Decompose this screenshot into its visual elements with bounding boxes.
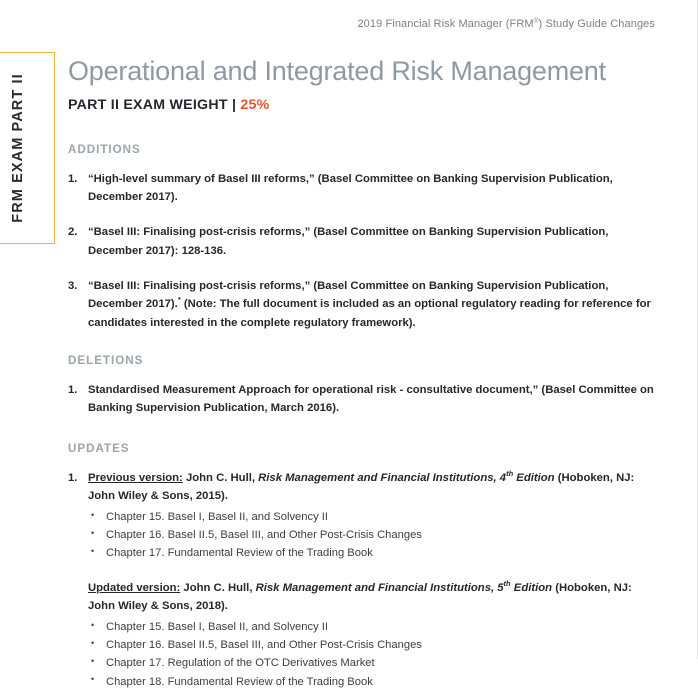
previous-version-chapter-list: Chapter 15. Basel I, Basel II, and Solve…: [88, 508, 656, 562]
list-item-number: 1.: [68, 469, 77, 487]
list-item-number: 3.: [68, 277, 77, 295]
updated-version-chapter-list: Chapter 15. Basel I, Basel II, and Solve…: [88, 618, 656, 691]
section-heading-updates: UPDATES: [68, 442, 656, 455]
previous-version-author: John C. Hull,: [183, 472, 258, 484]
list-item-number: 1.: [68, 170, 77, 188]
updated-version-label: Updated version:: [88, 582, 180, 594]
list-item: Chapter 17. Regulation of the OTC Deriva…: [88, 654, 656, 672]
section-additions: ADDITIONS 1. “High-level summary of Base…: [68, 143, 656, 332]
updated-version-line: Updated version: John C. Hull, Risk Mana…: [88, 579, 656, 616]
running-header-text-pre: 2019 Financial Risk Manager (FRM: [357, 18, 533, 30]
list-item: Chapter 17. Fundamental Review of the Tr…: [88, 544, 656, 562]
exam-weight-line: PART II EXAM WEIGHT | 25%: [68, 97, 656, 113]
running-header-text-post: ) Study Guide Changes: [539, 18, 655, 30]
running-header: 2019 Financial Risk Manager (FRM®) Study…: [357, 18, 655, 30]
list-item-text: Standardised Measurement Approach for op…: [88, 384, 654, 414]
section-heading-deletions: DELETIONS: [68, 354, 656, 367]
exam-weight-label: PART II EXAM WEIGHT: [68, 97, 228, 113]
section-heading-additions: ADDITIONS: [68, 143, 656, 156]
list-item: Chapter 18. Fundamental Review of the Tr…: [88, 673, 656, 691]
list-item: Chapter 16. Basel II.5, Basel III, and O…: [88, 636, 656, 654]
exam-part-tab: FRM EXAM PART II: [0, 52, 55, 244]
update-entry: Previous version: John C. Hull, Risk Man…: [88, 469, 656, 691]
list-item: 3. “Basel III: Finalising post-crisis re…: [68, 277, 656, 332]
updated-version-edition-ordinal: th: [504, 579, 511, 588]
updates-list: 1. Previous version: John C. Hull, Risk …: [68, 469, 656, 691]
page-title: Operational and Integrated Risk Manageme…: [68, 56, 656, 88]
updated-version-edition: Edition: [511, 582, 552, 594]
exam-part-tab-label: FRM EXAM PART II: [10, 73, 26, 222]
document-content: Operational and Integrated Risk Manageme…: [68, 56, 656, 695]
exam-weight-value: 25%: [240, 97, 269, 113]
additions-list: 1. “High-level summary of Basel III refo…: [68, 170, 656, 332]
updated-version-author: John C. Hull,: [180, 582, 255, 594]
updated-version-book-title: Risk Management and Financial Institutio…: [256, 582, 504, 594]
section-deletions: DELETIONS 1. Standardised Measurement Ap…: [68, 354, 656, 418]
update-spacer: [88, 563, 656, 579]
list-item: 1. Previous version: John C. Hull, Risk …: [68, 469, 656, 691]
list-item: 1. “High-level summary of Basel III refo…: [68, 170, 656, 207]
list-item-number: 2.: [68, 223, 77, 241]
previous-version-edition: Edition: [513, 472, 554, 484]
exam-weight-separator: |: [232, 97, 236, 113]
list-item: Chapter 15. Basel I, Basel II, and Solve…: [88, 618, 656, 636]
list-item-text: “Basel III: Finalising post-crisis refor…: [88, 280, 651, 329]
section-updates: UPDATES 1. Previous version: John C. Hul…: [68, 442, 656, 691]
previous-version-line: Previous version: John C. Hull, Risk Man…: [88, 469, 656, 506]
list-item-text: “High-level summary of Basel III reforms…: [88, 173, 613, 203]
list-item: 1. Standardised Measurement Approach for…: [68, 381, 656, 418]
list-item: Chapter 16. Basel II.5, Basel III, and O…: [88, 526, 656, 544]
list-item: Chapter 15. Basel I, Basel II, and Solve…: [88, 508, 656, 526]
previous-version-label: Previous version:: [88, 472, 183, 484]
document-page: 2019 Financial Risk Manager (FRM®) Study…: [0, 0, 698, 659]
previous-version-book-title: Risk Management and Financial Institutio…: [258, 472, 506, 484]
list-item: 2. “Basel III: Finalising post-crisis re…: [68, 223, 656, 260]
deletions-list: 1. Standardised Measurement Approach for…: [68, 381, 656, 418]
list-item-text: “Basel III: Finalising post-crisis refor…: [88, 226, 608, 256]
list-item-number: 1.: [68, 381, 77, 399]
